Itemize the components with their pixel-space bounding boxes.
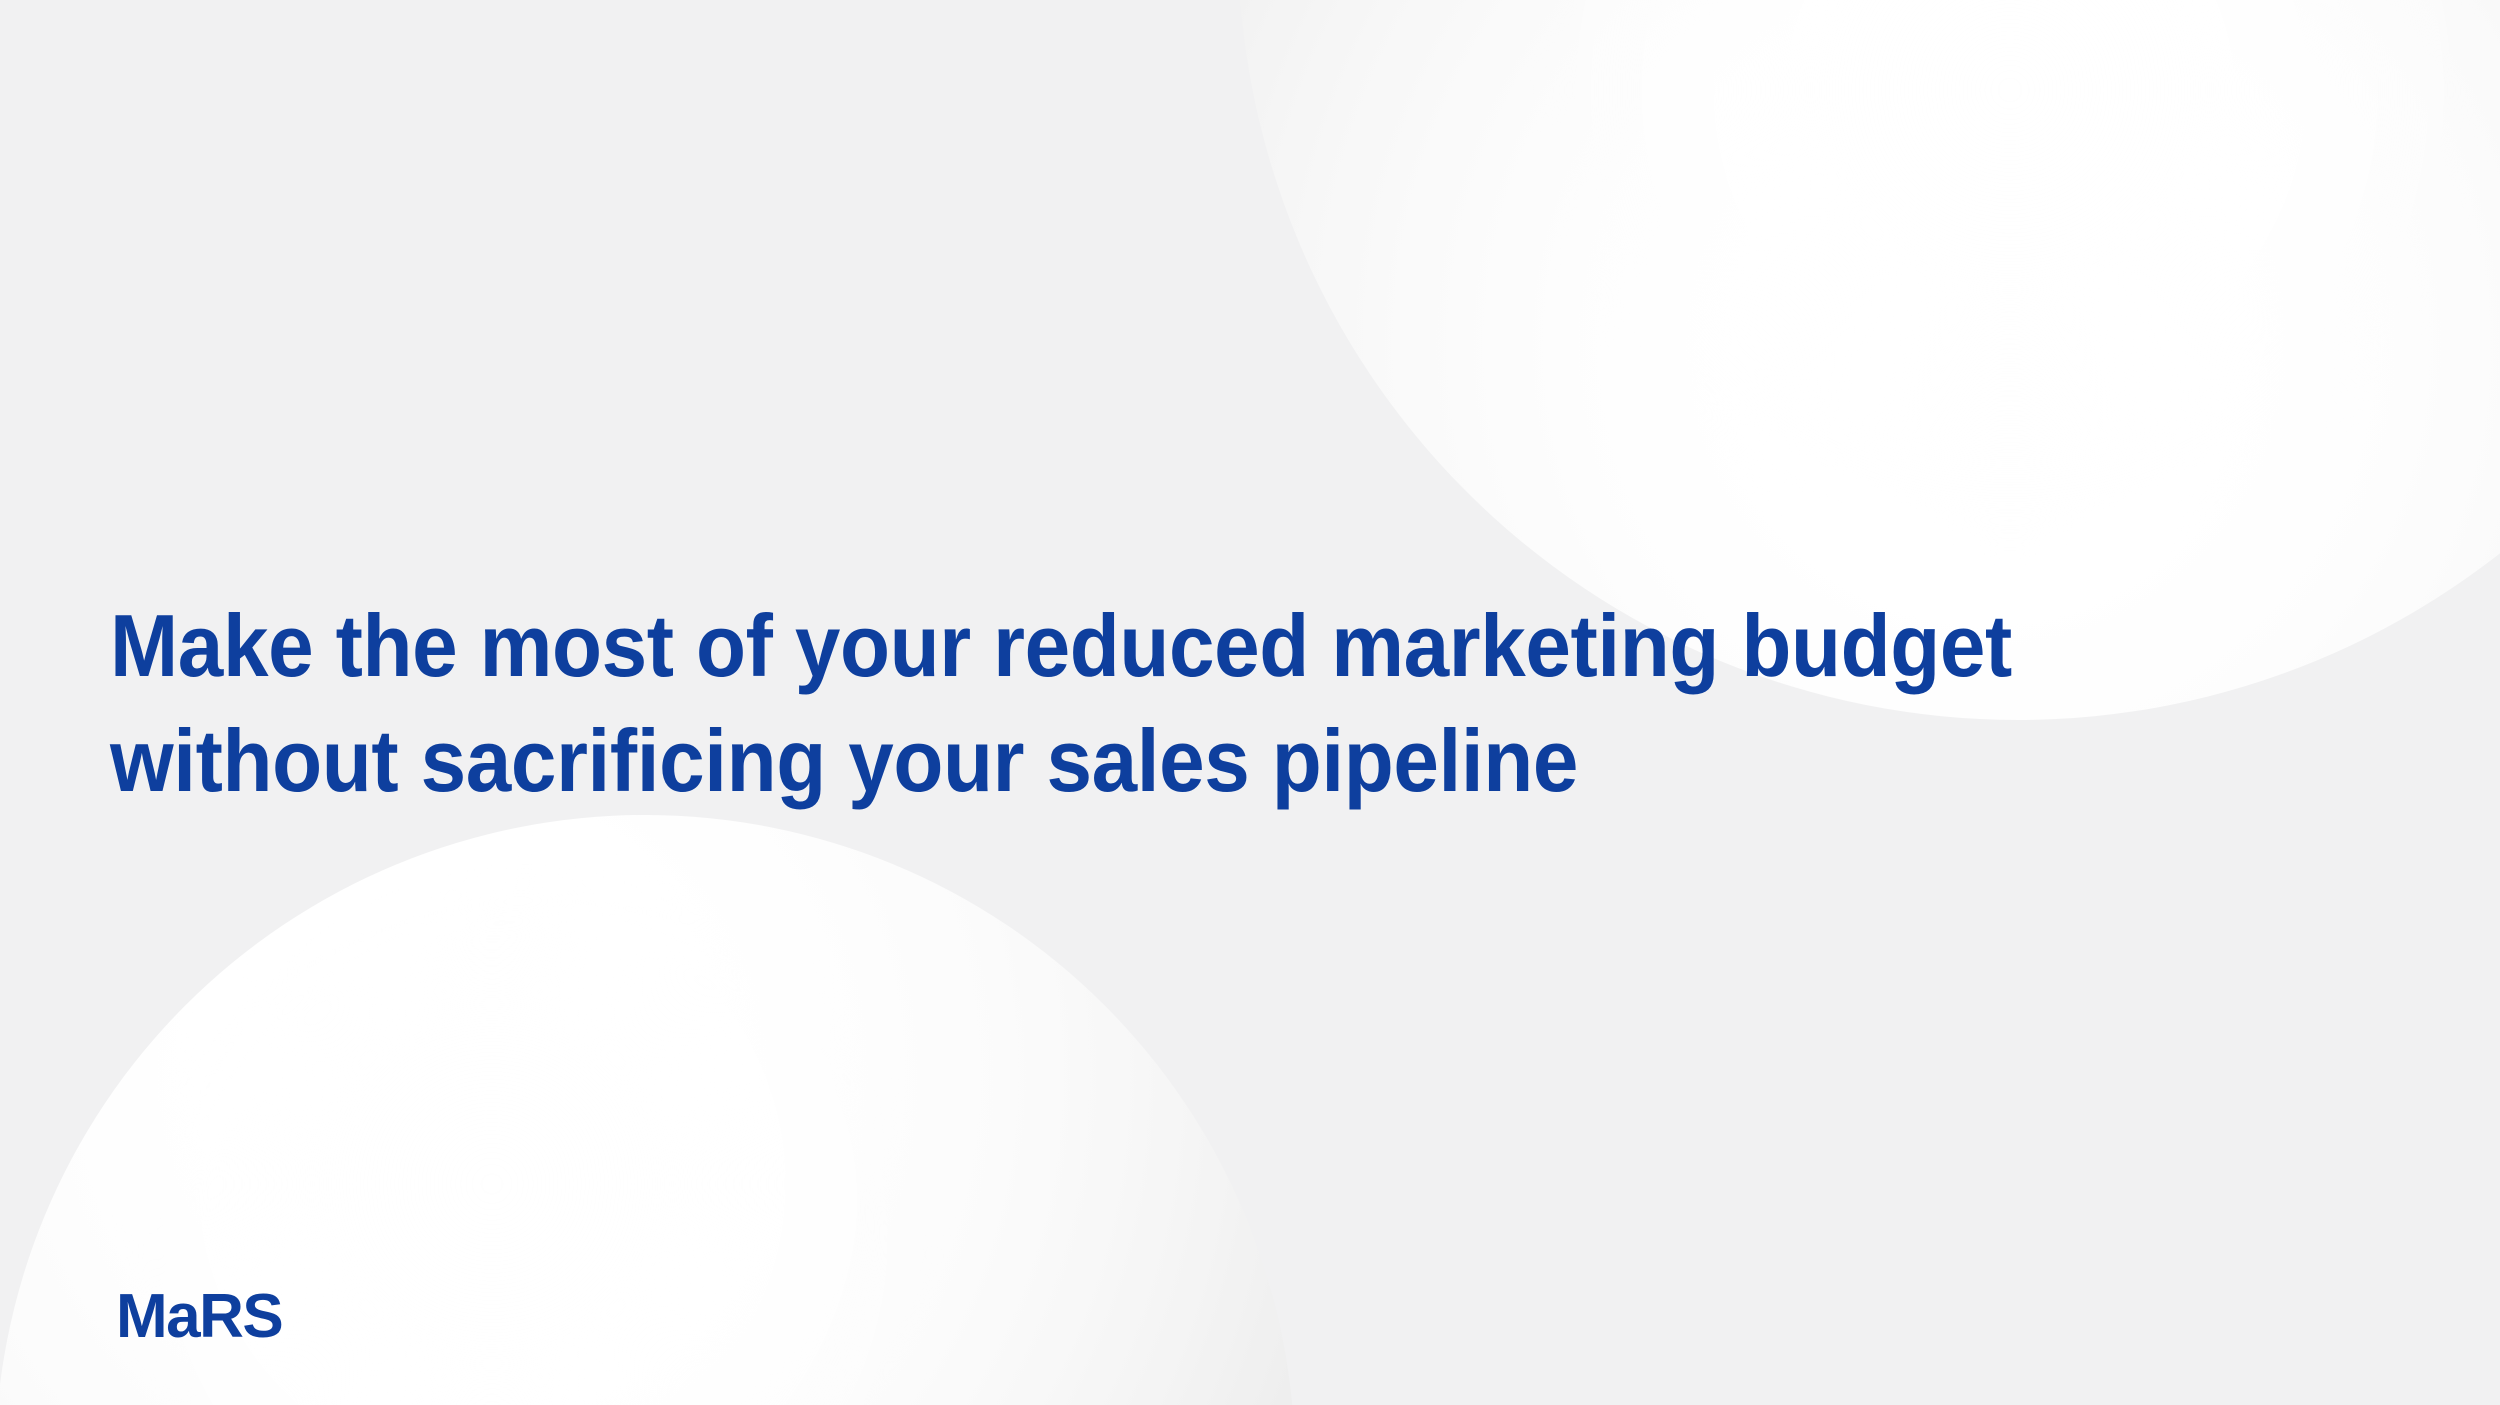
slide-canvas: Make the most of your reduced marketing …: [0, 0, 2500, 1405]
mars-logo: MaRS: [116, 1286, 282, 1348]
sphere-top-right-specular-highlight: [1560, 0, 2460, 540]
slide-headline: Make the most of your reduced marketing …: [110, 588, 2249, 818]
